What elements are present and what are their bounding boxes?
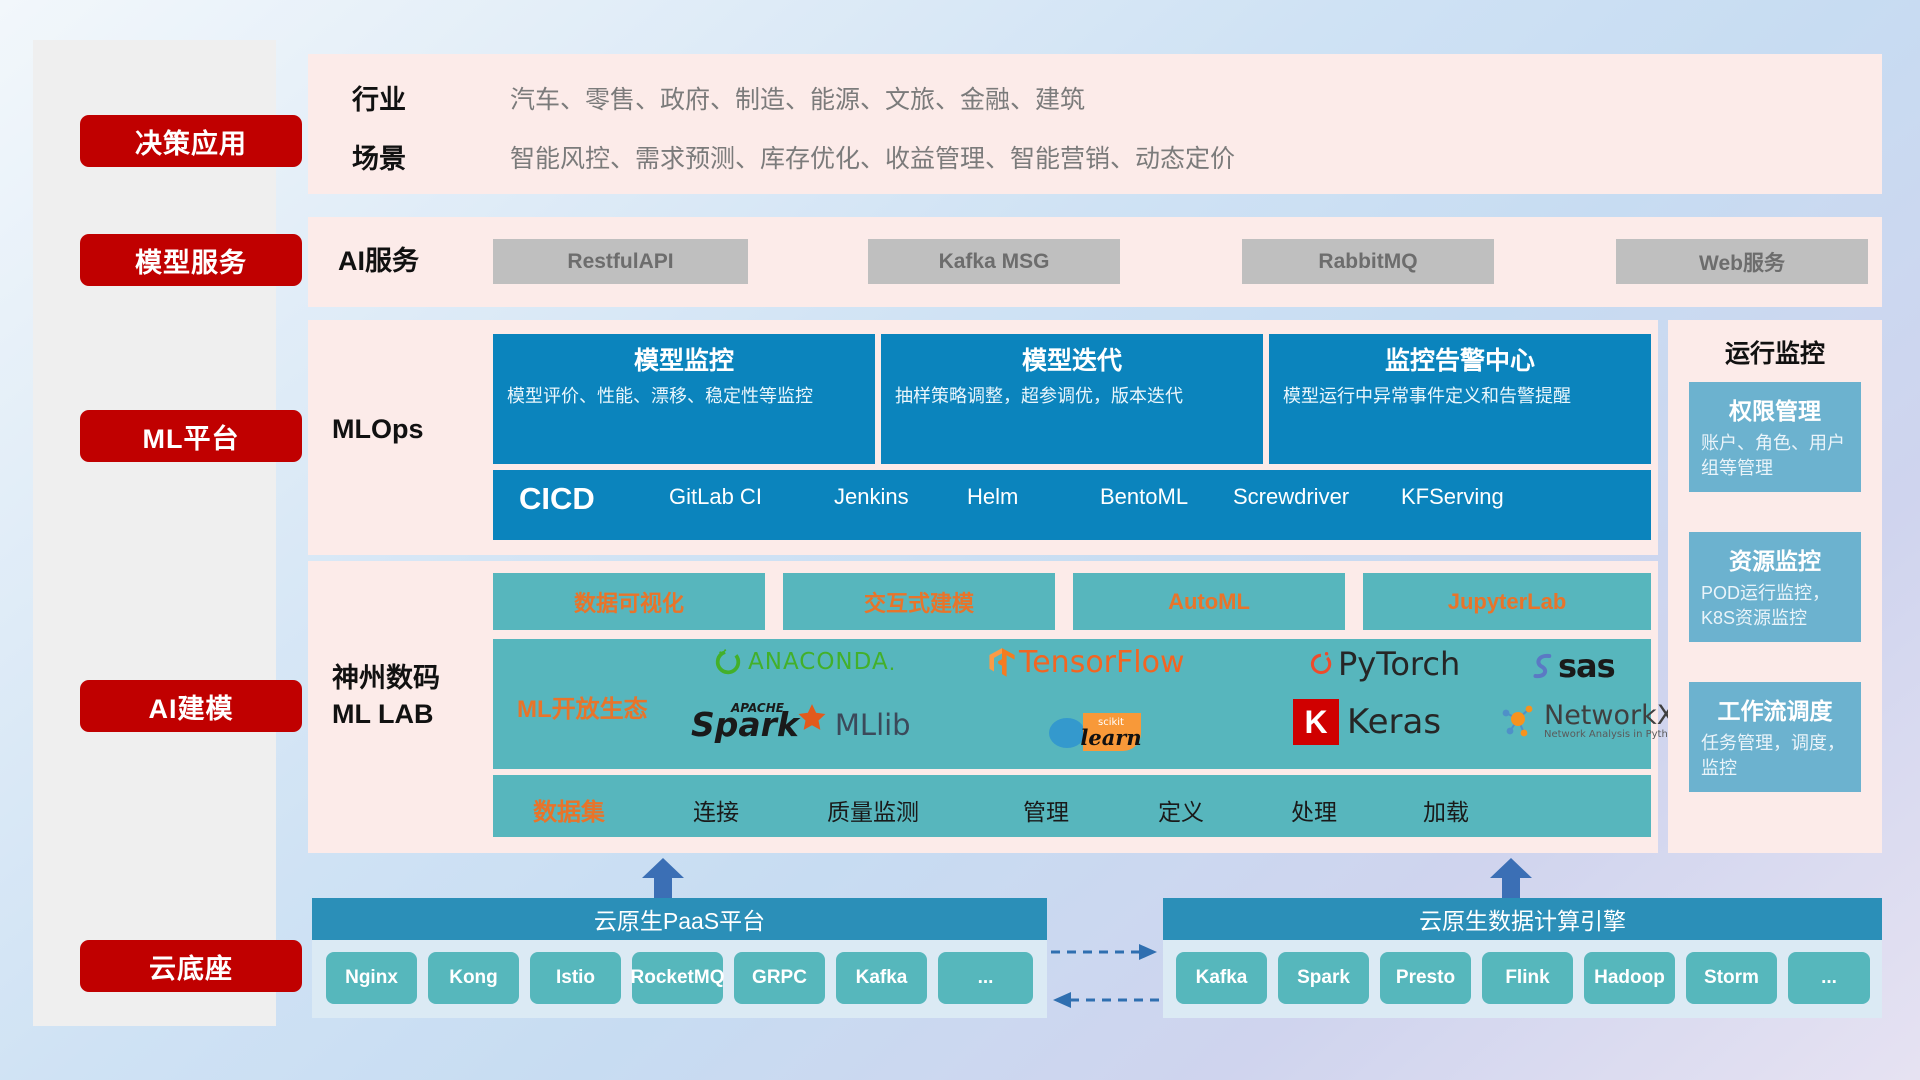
decision-app-panel: 行业 汽车、零售、政府、制造、能源、文旅、金融、建筑 场景 智能风控、需求预测、… [308,54,1882,194]
keras-logo: K Keras [1293,699,1441,745]
engine-tag-more[interactable]: ... [1788,952,1870,1004]
arrow-up-data-engine-icon [1488,858,1534,898]
card-description: 任务管理，调度，监控 [1701,731,1849,781]
card-title: 模型迭代 [895,346,1249,377]
cicd-item-gitlab-ci[interactable]: GitLab CI [669,470,834,509]
dataset-item-manage[interactable]: 管理 [1023,793,1069,827]
ai-service-label: AI服务 [338,244,419,280]
cloud-tag-kong[interactable]: Kong [428,952,519,1004]
rail-chip-ai-modeling[interactable]: AI建模 [80,680,302,732]
left-rail: 决策应用 模型服务 ML平台 AI建模 云底座 [33,40,276,1026]
ml-lab-tab-interactive-modeling[interactable]: 交互式建模 [783,573,1055,630]
run-monitor-card-resource[interactable]: 资源监控 POD运行监控，K8S资源监控 [1689,532,1861,642]
pytorch-logo: PyTorch [1308,645,1460,683]
bidirectional-connector [1047,930,1163,1020]
industry-value: 汽车、零售、政府、制造、能源、文旅、金融、建筑 [510,80,1085,116]
model-service-panel: AI服务 RestfulAPI Kafka MSG RabbitMQ Web服务 [308,217,1882,307]
mlops-card-model-monitoring[interactable]: 模型监控 模型评价、性能、漂移、稳定性等监控 [493,334,875,464]
spark-apache-text: APACHE [731,701,784,715]
networkx-wordmark: NetworkX [1544,702,1680,729]
keras-mark-letter: K [1304,704,1327,741]
rail-chip-cloud-base[interactable]: 云底座 [80,940,302,992]
mlops-card-model-iteration[interactable]: 模型迭代 抽样策略调整，超参调优，版本迭代 [881,334,1263,464]
mllib-wordmark: MLlib [835,708,911,742]
networkx-tagline: Network Analysis in Python [1544,729,1680,740]
engine-tag-presto[interactable]: Presto [1380,952,1471,1004]
engine-tag-kafka[interactable]: Kafka [1176,952,1267,1004]
ml-lab-label: 神州数码 ML LAB [332,661,440,732]
cicd-item-jenkins[interactable]: Jenkins [834,470,967,509]
ml-open-ecosystem-block: ML开放生态 ANACONDA . TensorFlow [493,639,1651,769]
cloud-tag-kafka[interactable]: Kafka [836,952,927,1004]
dataset-item-process[interactable]: 处理 [1291,793,1337,827]
mlops-card-alert-center[interactable]: 监控告警中心 模型运行中异常事件定义和告警提醒 [1269,334,1651,464]
spark-mllib-logo: APACHE Spark MLlib [691,705,911,744]
keras-mark-icon: K [1293,699,1339,745]
rail-chip-decision-app[interactable]: 决策应用 [80,115,302,167]
anaconda-mark-icon [713,647,743,677]
cicd-label: CICD [493,470,669,517]
cloud-base-data-engine-title: 云原生数据计算引擎 [1163,898,1882,940]
run-monitor-card-workflow[interactable]: 工作流调度 任务管理，调度，监控 [1689,682,1861,792]
spark-star-icon [795,702,829,736]
card-description: POD运行监控，K8S资源监控 [1701,581,1849,631]
scenario-key: 场景 [352,137,406,176]
ml-lab-tab-data-visualization[interactable]: 数据可视化 [493,573,765,630]
scikit-learn-logo: scikit learn [1041,705,1151,753]
svg-text:learn: learn [1080,725,1141,750]
dataset-row: 数据集 连接 质量监测 管理 定义 处理 加载 [493,775,1651,837]
cicd-item-kfserving[interactable]: KFServing [1401,470,1551,509]
card-title: 资源监控 [1701,542,1849,576]
cloud-tag-more[interactable]: ... [938,952,1033,1004]
engine-tag-hadoop[interactable]: Hadoop [1584,952,1675,1004]
service-box-restfulapi[interactable]: RestfulAPI [493,239,748,284]
ml-open-ecosystem-label: ML开放生态 [517,689,648,724]
ml-lab-label-line2: ML LAB [332,699,434,729]
tensorflow-mark-icon [987,647,1017,679]
engine-tag-storm[interactable]: Storm [1686,952,1777,1004]
networkx-logo: NetworkX Network Analysis in Python [1498,701,1680,741]
keras-wordmark: Keras [1347,702,1441,742]
card-description: 模型运行中异常事件定义和告警提醒 [1283,384,1637,410]
scenario-value: 智能风控、需求预测、库存优化、收益管理、智能营销、动态定价 [510,139,1235,175]
mlops-label: MLOps [332,412,424,448]
service-box-rabbitmq[interactable]: RabbitMQ [1242,239,1494,284]
scikit-learn-mark-icon: scikit learn [1041,705,1151,753]
card-title: 权限管理 [1701,392,1849,426]
run-monitor-card-permission[interactable]: 权限管理 账户、角色、用户组等管理 [1689,382,1861,492]
cicd-row: CICD GitLab CI Jenkins Helm BentoML Scre… [493,470,1651,540]
dataset-item-quality[interactable]: 质量监测 [827,793,919,827]
rail-chip-ml-platform[interactable]: ML平台 [80,410,302,462]
arrow-up-paas-icon [640,858,686,898]
engine-tag-spark[interactable]: Spark [1278,952,1369,1004]
mlops-panel: MLOps 模型监控 模型评价、性能、漂移、稳定性等监控 模型迭代 抽样策略调整… [308,320,1658,555]
cicd-item-screwdriver[interactable]: Screwdriver [1233,470,1401,509]
cloud-tag-istio[interactable]: Istio [530,952,621,1004]
ml-lab-tab-automl[interactable]: AutoML [1073,573,1345,630]
cloud-tag-nginx[interactable]: Nginx [326,952,417,1004]
run-monitor-title: 运行监控 [1668,334,1882,370]
card-description: 模型评价、性能、漂移、稳定性等监控 [507,384,861,410]
card-title: 监控告警中心 [1283,346,1637,377]
cloud-tag-grpc[interactable]: GRPC [734,952,825,1004]
dataset-label: 数据集 [533,792,605,827]
service-box-web-service[interactable]: Web服务 [1616,239,1868,284]
ml-lab-panel: 神州数码 ML LAB 数据可视化 交互式建模 AutoML JupyterLa… [308,561,1658,853]
cicd-item-helm[interactable]: Helm [967,470,1100,509]
card-description: 抽样策略调整，超参调优，版本迭代 [895,384,1249,410]
rail-chip-model-service[interactable]: 模型服务 [80,234,302,286]
engine-tag-flink[interactable]: Flink [1482,952,1573,1004]
pytorch-mark-icon [1308,649,1334,679]
pytorch-wordmark: PyTorch [1338,645,1460,683]
architecture-diagram: 决策应用 模型服务 ML平台 AI建模 云底座 行业 汽车、零售、政府、制造、能… [0,0,1920,1080]
sas-mark-icon [1528,651,1558,681]
cicd-item-bentoml[interactable]: BentoML [1100,470,1233,509]
anaconda-logo: ANACONDA . [713,647,895,677]
tensorflow-logo: TensorFlow [987,645,1185,680]
card-title: 模型监控 [507,346,861,377]
cloud-base-paas-title: 云原生PaaS平台 [312,898,1047,940]
industry-key: 行业 [352,78,406,117]
tensorflow-wordmark: TensorFlow [1019,645,1185,680]
dataset-item-load[interactable]: 加载 [1423,793,1469,827]
ml-lab-tab-jupyterlab[interactable]: JupyterLab [1363,573,1651,630]
sas-logo: sas [1528,647,1615,685]
networkx-mark-icon [1498,701,1540,741]
sas-wordmark: sas [1558,647,1615,685]
card-description: 账户、角色、用户组等管理 [1701,431,1849,481]
dataset-item-define[interactable]: 定义 [1158,793,1204,827]
service-box-kafka-msg[interactable]: Kafka MSG [868,239,1120,284]
cloud-tag-rocketmq[interactable]: RocketMQ [632,952,723,1004]
anaconda-wordmark: ANACONDA [748,649,889,675]
ml-lab-label-line1: 神州数码 [332,663,440,693]
run-monitor-panel: 运行监控 权限管理 账户、角色、用户组等管理 资源监控 POD运行监控，K8S资… [1668,320,1882,853]
card-title: 工作流调度 [1701,692,1849,726]
dataset-item-connect[interactable]: 连接 [693,793,739,827]
